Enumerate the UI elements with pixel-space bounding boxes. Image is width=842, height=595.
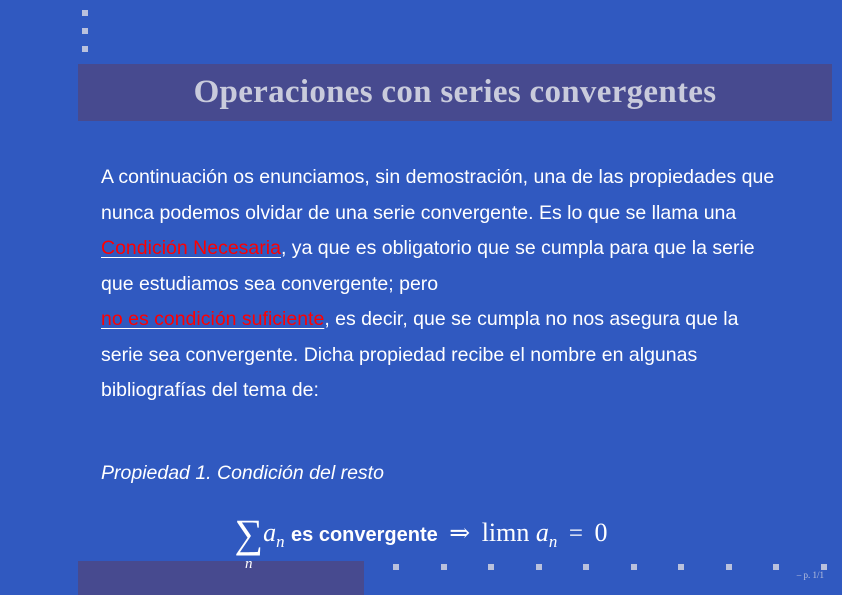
- nav-dot-icon[interactable]: [441, 564, 447, 570]
- body-paragraph: A continuación os enunciamos, sin demost…: [101, 160, 781, 409]
- equals-symbol: =: [564, 520, 588, 547]
- formula-words: es convergente: [291, 524, 438, 546]
- nav-dot-icon[interactable]: [631, 564, 637, 570]
- series-term: an: [263, 518, 284, 547]
- body-text-part-1: A continuación os enunciamos, sin demost…: [101, 166, 774, 224]
- series-term-base: a: [263, 518, 276, 547]
- summation-symbol: ∑n: [235, 521, 264, 547]
- series-term-subscript: n: [276, 532, 284, 551]
- decor-square-icon: [82, 28, 88, 34]
- limit-term: an: [536, 518, 557, 547]
- nav-dot-icon[interactable]: [393, 564, 399, 570]
- limit-value: 0: [594, 518, 607, 547]
- decor-square-icon: [82, 10, 88, 16]
- summation-index: n: [245, 551, 253, 577]
- limit-operator: limn: [482, 518, 530, 548]
- property-statement: Propiedad 1. Condición del resto: [101, 462, 384, 485]
- highlight-condicion-necesaria: Condición Necesaria: [101, 237, 281, 259]
- nav-dot-icon[interactable]: [583, 564, 589, 570]
- limit-term-base: a: [536, 518, 549, 547]
- nav-dot-icon[interactable]: [536, 564, 542, 570]
- limit-index: n: [516, 518, 529, 547]
- sigma-glyph: ∑: [235, 511, 264, 556]
- limit-term-subscript: n: [549, 532, 557, 551]
- page-number-indicator: – p. 1/1: [797, 570, 824, 580]
- corner-decoration-marks: [82, 8, 94, 60]
- nav-dot-icon[interactable]: [773, 564, 779, 570]
- nav-dot-icon[interactable]: [726, 564, 732, 570]
- slide-title-bar: Operaciones con series convergentes: [78, 64, 832, 121]
- nav-dot-icon[interactable]: [488, 564, 494, 570]
- page-title: Operaciones con series convergentes: [194, 74, 717, 111]
- navigation-dot-row[interactable]: [0, 561, 842, 573]
- math-formula: ∑nan es convergente ⇒ limn an = 0: [0, 518, 842, 552]
- highlight-no-es-condicion-suficiente: no es condición suficiente: [101, 308, 324, 330]
- nav-dot-icon[interactable]: [678, 564, 684, 570]
- lim-label: lim: [482, 518, 517, 547]
- slide-body-text: A continuación os enunciamos, sin demost…: [101, 160, 781, 409]
- decor-square-icon: [82, 46, 88, 52]
- implies-symbol: ⇒: [444, 520, 475, 547]
